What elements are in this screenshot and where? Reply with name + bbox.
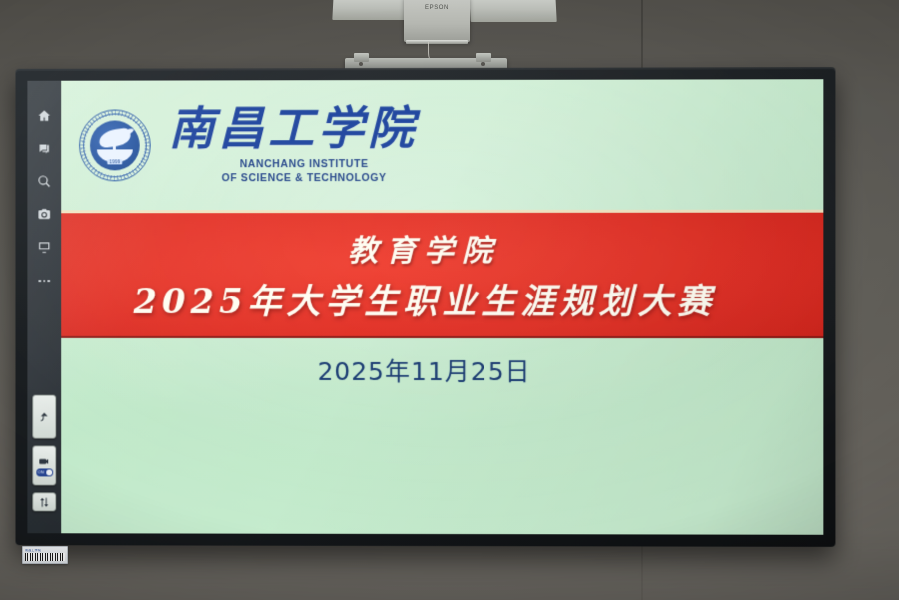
camera-toggle-button[interactable]: ON (32, 446, 56, 486)
camera-toggle-switch[interactable]: ON (36, 468, 53, 476)
barcode-icon (25, 553, 65, 561)
bracket-screw-left (359, 62, 363, 66)
toolbar-bottom-controls[interactable]: ON (32, 395, 56, 512)
home-icon[interactable] (33, 105, 55, 127)
university-name-en: NANCHANG INSTITUTE OF SCIENCE & TECHNOLO… (169, 158, 418, 185)
slide-date: 2025年11月25日 (27, 352, 823, 388)
banner-title-line2: 2025年大学生职业生涯规划大赛 (133, 274, 716, 323)
university-name-cn: 南昌工学院 (169, 105, 418, 151)
screenshot-root: EPSON (0, 0, 899, 600)
title-banner: 教育学院 2025年大学生职业生涯规划大赛 (27, 210, 823, 338)
university-name-block: 南昌工学院 NANCHANG INSTITUTE OF SCIENCE & TE… (169, 105, 418, 185)
magnifier-icon[interactable] (33, 170, 55, 192)
bracket-screw-right (481, 62, 485, 66)
asset-barcode-label: 南昌工学院 (22, 546, 68, 564)
emblem-year: 1999 (107, 159, 122, 164)
annotate-icon[interactable] (33, 138, 55, 160)
display-bezel: 1999 南昌工学院 NANCHANG INSTITUTE OF SCIENCE… (15, 67, 835, 547)
asset-label-text: 南昌工学院 (25, 549, 65, 552)
banner-title-line1: 教育学院 (348, 226, 500, 270)
camera-toggle-label: ON (38, 469, 44, 474)
display-panel: 1999 南昌工学院 NANCHANG INSTITUTE OF SCIENCE… (27, 79, 823, 535)
bracket-tab-left (354, 53, 369, 62)
projector-brand-label: EPSON (404, 5, 470, 11)
more-options-icon[interactable] (33, 269, 55, 291)
presentation-slide: 1999 南昌工学院 NANCHANG INSTITUTE OF SCIENCE… (27, 79, 823, 535)
emblem-core: 1999 (90, 120, 140, 170)
bracket-tab-right (476, 53, 491, 62)
whiteboard-icon[interactable] (33, 236, 55, 258)
screen-surface[interactable]: 1999 南昌工学院 NANCHANG INSTITUTE OF SCIENCE… (27, 79, 823, 535)
university-emblem-icon: 1999 (79, 109, 151, 181)
back-button[interactable] (32, 395, 56, 439)
more-dots (39, 280, 50, 282)
ceiling-panel-right (469, 0, 556, 22)
camera-icon[interactable] (33, 203, 55, 225)
switch-source-button[interactable] (32, 492, 56, 511)
slide-header: 1999 南昌工学院 NANCHANG INSTITUTE OF SCIENCE… (27, 79, 823, 210)
